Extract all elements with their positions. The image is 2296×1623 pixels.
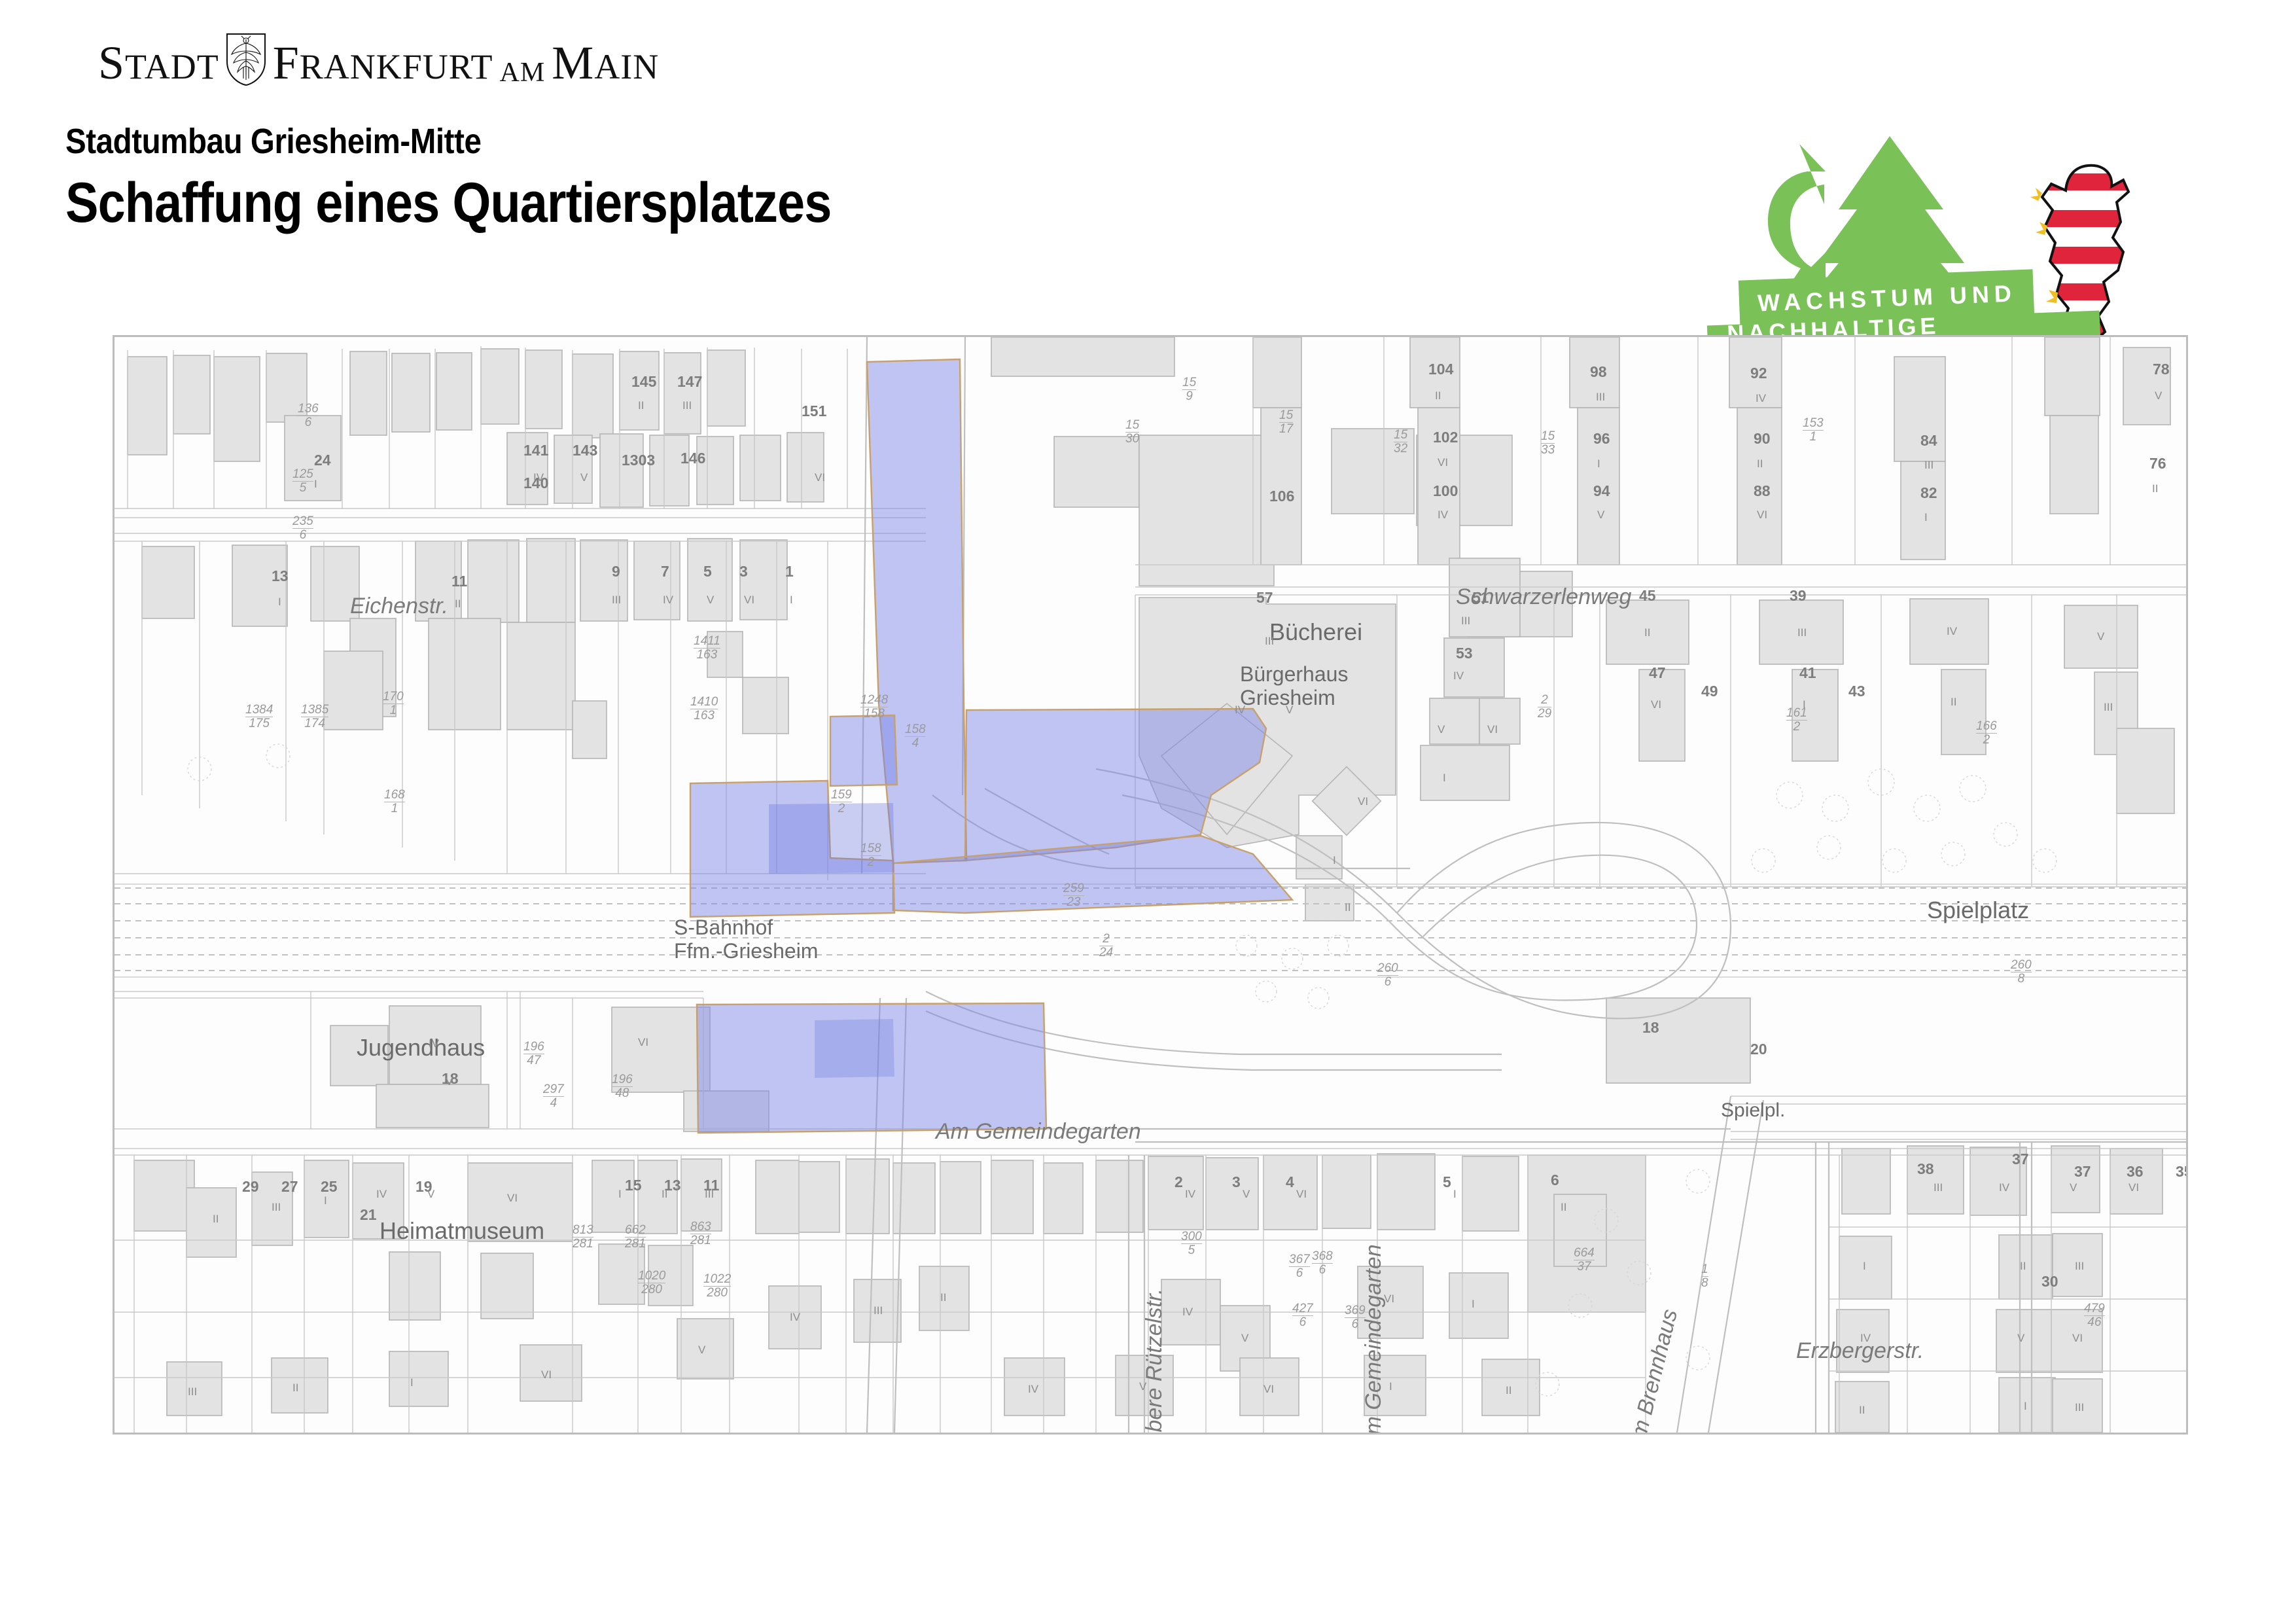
parcel-number: 3686	[1312, 1250, 1333, 1276]
house-number: 45	[1639, 587, 1656, 605]
house-number: 94	[1593, 482, 1610, 500]
city-logo-am: AM	[500, 59, 546, 86]
house-number: 49	[1701, 683, 1718, 700]
floor-count: II	[1757, 457, 1763, 471]
house-number: 15	[625, 1177, 642, 1194]
parcel-numerator: 158	[905, 723, 926, 737]
floor-count: V	[2097, 630, 2104, 643]
parcel-numerator: 367	[1289, 1253, 1310, 1267]
parcel-number: 813281	[573, 1224, 593, 1250]
floor-count: IV	[1438, 508, 1448, 522]
parcel-numerator: 369	[1345, 1304, 1366, 1318]
parcel-denominator: 1	[1810, 430, 1817, 444]
floor-count: II	[1644, 626, 1650, 639]
parcel-numerator: 15	[1125, 419, 1139, 433]
parcel-numerator: 1411	[694, 635, 720, 649]
parcel-denominator: 5	[300, 481, 307, 495]
floor-count: V	[1139, 1380, 1146, 1393]
poi-label-jugendhaus: Jugendhaus	[357, 1034, 485, 1061]
parcel-denominator: 4	[550, 1096, 557, 1110]
parcel-denominator: 163	[697, 648, 718, 662]
parcel-denominator: 29	[1538, 707, 1551, 721]
parcel-number: 19647	[523, 1041, 544, 1067]
floor-count: IV	[376, 1188, 387, 1201]
city-logo: STADT FRANKFURT AM MAIN	[98, 33, 659, 86]
parcel-numerator: 863	[690, 1221, 711, 1234]
parcel-numerator: 15	[1279, 409, 1293, 423]
floor-count: IV	[533, 471, 544, 484]
floor-count: I	[314, 478, 317, 491]
floor-count: II	[1506, 1384, 1511, 1397]
parcel-number: 159	[1182, 376, 1196, 402]
house-number: 24	[314, 452, 331, 469]
floor-count: II	[2020, 1260, 2026, 1273]
parcel-number: 1530	[1125, 419, 1139, 445]
parcel-number: 1410163	[690, 696, 718, 722]
parcel-denominator: 6	[1319, 1263, 1326, 1277]
floor-count: VI	[1358, 795, 1368, 808]
house-number: 37	[2012, 1150, 2029, 1168]
floor-count: II	[1859, 1404, 1865, 1417]
parcel-denominator: 2	[868, 855, 875, 869]
floor-count: II	[638, 399, 644, 412]
floor-count: II	[2152, 482, 2158, 495]
parcel-denominator: 37	[1577, 1260, 1591, 1274]
parcel-denominator: 33	[1541, 443, 1555, 457]
house-number: 25	[321, 1178, 338, 1196]
parcel-denominator: 6	[1299, 1315, 1307, 1329]
parcel-numerator: 196	[612, 1073, 633, 1087]
parcel-denominator: 281	[625, 1237, 646, 1251]
house-number: 84	[1920, 432, 1937, 450]
floor-count: V	[1286, 704, 1293, 717]
parcel-denominator: 280	[707, 1286, 728, 1300]
parcel-numerator: 1	[1701, 1263, 1708, 1277]
street-label-am-gemeindegarten: Am Gemeindegarten	[936, 1119, 1141, 1145]
house-number: 36	[2127, 1163, 2144, 1181]
floor-count: V	[580, 471, 588, 484]
house-number: 57	[1256, 589, 1273, 607]
house-number: 106	[1269, 488, 1294, 505]
floor-count: I	[790, 594, 793, 607]
parcel-denominator: 8	[1701, 1276, 1708, 1290]
floor-count: III	[1596, 391, 1605, 404]
floor-count: II	[1435, 389, 1441, 402]
floor-count: III	[1797, 626, 1807, 639]
poi-label-buergerhaus-line2: Griesheim	[1240, 687, 1348, 710]
floor-count: IV	[1453, 669, 1464, 683]
house-number: 1	[785, 563, 794, 580]
house-number: 6	[1551, 1171, 1559, 1189]
floor-count: III	[705, 1188, 714, 1201]
parcel-denominator: 2	[1983, 733, 1990, 747]
house-number: 2	[1174, 1173, 1183, 1191]
parcel-denominator: 163	[694, 709, 715, 722]
floor-count: I	[1333, 854, 1336, 867]
floor-count: II	[1345, 901, 1351, 914]
parcel-numerator: 159	[831, 789, 852, 802]
floor-count: I	[1443, 772, 1446, 785]
parcel-numerator: 196	[523, 1041, 544, 1054]
floor-count: VI	[1651, 698, 1661, 711]
parcel-number: 1701	[383, 690, 404, 717]
parcel-denominator: 47	[527, 1054, 540, 1067]
parcel-number: 1248158	[860, 694, 888, 720]
parcel-number: 1517	[1279, 409, 1293, 435]
house-number: 21	[360, 1206, 377, 1224]
floor-count: III	[1461, 615, 1470, 628]
floor-count: III	[612, 594, 621, 607]
parcel-numerator: 1410	[690, 696, 718, 709]
floor-count: IV	[790, 1311, 800, 1324]
parcel-number: 1385174	[301, 704, 328, 730]
house-number: 30	[2041, 1273, 2058, 1291]
floor-count: IV	[1860, 1332, 1871, 1345]
parcel-number: 4276	[1292, 1302, 1313, 1329]
parcel-numerator: 297	[543, 1083, 564, 1097]
parcel-number: 3696	[1345, 1304, 1366, 1330]
parcel-numerator: 368	[1312, 1250, 1333, 1264]
floor-count: II	[1951, 696, 1956, 709]
floor-count: I	[2024, 1400, 2027, 1413]
parcel-numerator: 15	[1394, 429, 1407, 442]
city-logo-frankfurt: FRANKFURT	[273, 39, 493, 86]
title-block: Stadtumbau Griesheim-Mitte Schaffung ein…	[65, 121, 936, 236]
house-number: 141	[523, 442, 548, 459]
floor-count: IV	[1947, 625, 1957, 638]
house-number: 145	[631, 373, 656, 391]
parcel-numerator: 166	[1976, 720, 1997, 734]
parcel-number: 2606	[1377, 962, 1398, 988]
parcel-numerator: 15	[1541, 430, 1555, 444]
house-number: 43	[1848, 683, 1865, 700]
floor-count: VI	[744, 594, 754, 607]
house-number: 90	[1754, 430, 1771, 448]
floor-count: V	[446, 1075, 453, 1088]
parcel-denominator: 6	[300, 528, 307, 542]
poster-page: STADT FRANKFURT AM MAIN	[0, 0, 2296, 1623]
floor-count: IV	[1235, 704, 1245, 717]
parcel-numerator: 1022	[703, 1273, 731, 1287]
floor-count: VI	[541, 1368, 552, 1382]
parcel-denominator: 281	[690, 1234, 711, 1247]
floor-count: II	[662, 1188, 667, 1201]
house-number: 20	[1750, 1041, 1767, 1058]
house-number: 151	[802, 402, 826, 420]
parcel-number: 1366	[298, 402, 319, 429]
floor-count: VI	[1487, 723, 1498, 736]
parcel-denominator: 6	[1296, 1266, 1303, 1280]
parcel-number: 66437	[1574, 1247, 1595, 1273]
floor-count: V	[2155, 389, 2162, 402]
parcel-numerator: 260	[1377, 962, 1398, 976]
floor-count: IV	[1182, 1306, 1193, 1319]
floor-count: III	[874, 1304, 883, 1317]
parcel-denominator: 6	[1385, 975, 1392, 989]
parcel-number: 1662	[1976, 720, 1997, 746]
parcel-numerator: 260	[2011, 959, 2032, 972]
parcel-number: 1584	[905, 723, 926, 749]
parcel-numerator: 2	[1538, 694, 1551, 707]
house-number: 104	[1428, 361, 1453, 378]
floor-count: I	[410, 1376, 414, 1389]
house-number: 18	[1642, 1019, 1659, 1037]
house-number: 38	[1917, 1160, 1934, 1178]
parcel-number: 19648	[612, 1073, 633, 1099]
parcel-number: 1020280	[638, 1270, 665, 1296]
frankfurt-eagle-crest-icon	[226, 33, 266, 86]
floor-count: I	[1453, 1188, 1457, 1201]
floor-count: III	[2075, 1401, 2084, 1414]
parcel-number: 3005	[1181, 1230, 1202, 1257]
parcel-numerator: 427	[1292, 1302, 1313, 1316]
project-subtitle: Stadtumbau Griesheim-Mitte	[65, 121, 831, 162]
house-number: 92	[1750, 365, 1767, 382]
house-number: 143	[573, 442, 597, 459]
house-number: 3	[1232, 1173, 1241, 1191]
floor-count: V	[427, 1188, 434, 1201]
parcel-denominator: 174	[304, 717, 325, 730]
parcel-denominator: 24	[1099, 946, 1113, 959]
floor-count: VI	[1384, 1293, 1394, 1306]
house-number: 47	[1649, 664, 1666, 682]
floor-count: VI	[815, 471, 825, 484]
floor-count: IV	[1756, 392, 1766, 405]
floor-count: III	[1934, 1181, 1943, 1194]
parcel-number: 25923	[1063, 882, 1084, 908]
floor-count: I	[324, 1194, 327, 1207]
parcel-denominator: 48	[615, 1086, 629, 1100]
floor-count: I	[1924, 511, 1928, 524]
floor-count: VI	[2072, 1332, 2083, 1345]
floor-count: III	[2075, 1260, 2084, 1273]
parcel-denominator: 6	[1352, 1317, 1359, 1331]
house-number: 7	[661, 563, 669, 580]
parcel-number: 2974	[543, 1083, 564, 1109]
parcel-denominator: 9	[1186, 389, 1193, 403]
parcel-number: 1533	[1541, 430, 1555, 456]
house-number: 39	[1790, 587, 1807, 605]
parcel-numerator: 153	[1803, 417, 1824, 431]
floor-count: VI	[2128, 1181, 2139, 1194]
floor-count: III	[682, 399, 692, 412]
parcel-numerator: 235	[292, 515, 313, 529]
city-logo-main: MAIN	[552, 39, 659, 86]
poi-label-sbahnhof: S-Bahnhof Ffm.-Griesheim	[674, 916, 818, 963]
floor-count: IV	[663, 594, 673, 607]
parcel-number: 2608	[2011, 959, 2032, 985]
house-number: 37	[2074, 1163, 2091, 1181]
floor-count: IV	[1999, 1181, 2009, 1194]
house-number: 98	[1590, 363, 1607, 381]
floor-count: V	[2070, 1181, 2077, 1194]
floor-count: IV	[1185, 1188, 1195, 1201]
house-number: 5	[1443, 1173, 1451, 1191]
parcel-number: 2356	[292, 515, 313, 541]
footer-logo-bar: Bundesministerium für Wohnen, Stadtentwi…	[0, 1472, 2296, 1623]
house-number: 78	[2153, 361, 2170, 378]
parcel-numerator: 813	[573, 1224, 593, 1238]
parcel-number: 1592	[831, 789, 852, 815]
city-logo-stadt: STADT	[98, 39, 219, 86]
floor-count: VI	[638, 1036, 648, 1049]
floor-count: V	[1241, 1332, 1248, 1345]
house-number: 9	[612, 563, 620, 580]
parcel-numerator: 158	[860, 842, 881, 856]
parcel-numerator: 259	[1063, 882, 1084, 896]
house-number: 35	[2176, 1163, 2188, 1181]
parcel-numerator: 662	[625, 1224, 646, 1238]
parcel-number: 1255	[292, 468, 313, 494]
house-number: 41	[1799, 664, 1816, 682]
parcel-number: 224	[1099, 933, 1113, 959]
poi-label-sbahnhof-line2: Ffm.-Griesheim	[674, 940, 818, 963]
parcel-denominator: 280	[641, 1283, 662, 1296]
parcel-denominator: 2	[1793, 720, 1801, 734]
parcel-number: 1531	[1803, 417, 1824, 443]
parcel-number: 1384175	[245, 704, 273, 730]
parcel-numerator: 664	[1574, 1247, 1595, 1260]
parcel-denominator: 17	[1279, 422, 1293, 436]
poi-label-buergerhaus-line1: Bürgerhaus	[1240, 663, 1348, 687]
parcel-denominator: 158	[864, 707, 885, 721]
house-number: 13	[272, 567, 289, 585]
floor-count: II	[455, 597, 461, 611]
floor-count: III	[1924, 459, 1934, 472]
parcel-numerator: 2	[1099, 933, 1113, 946]
floor-count: I	[618, 1188, 622, 1201]
parcel-denominator: 23	[1067, 895, 1080, 909]
floor-count: III	[272, 1201, 281, 1214]
parcel-number: 1022280	[703, 1273, 731, 1299]
floor-count: III	[188, 1385, 197, 1399]
parcel-number: 229	[1538, 694, 1551, 720]
floor-count: VI	[1296, 1188, 1307, 1201]
page-title: Schaffung eines Quartiersplatzes	[65, 171, 831, 236]
floor-count: II	[940, 1291, 946, 1304]
house-number: 102	[1433, 429, 1458, 446]
parcel-denominator: 175	[249, 717, 270, 730]
floor-count: I	[1597, 457, 1600, 471]
street-label-obere-ruetzelstr: Obere Rützelstr.	[1142, 1289, 1167, 1435]
house-number: 53	[1456, 645, 1473, 662]
floor-count: V	[707, 594, 714, 607]
parcel-numerator: 1248	[860, 694, 888, 707]
floor-count: I	[278, 596, 281, 609]
floor-count: V	[1597, 508, 1604, 522]
parcel-numerator: 125	[292, 468, 313, 482]
parcel-number: 1681	[384, 789, 405, 815]
floor-count: IV	[1028, 1383, 1038, 1396]
parcel-denominator: 1	[390, 704, 397, 717]
parcel-denominator: 2	[838, 802, 845, 815]
street-label-am-gemeindegarten-vertical: Am Gemeindegarten	[1361, 1244, 1386, 1435]
parcel-denominator: 5	[1188, 1243, 1195, 1257]
floor-count: II	[213, 1213, 219, 1226]
parcel-number: 1411163	[694, 635, 720, 661]
floor-count: II	[292, 1382, 298, 1395]
parcel-number: 3676	[1289, 1253, 1310, 1279]
parcel-number: 863281	[690, 1221, 711, 1247]
floor-count: V	[1438, 723, 1445, 736]
parcel-numerator: 168	[384, 789, 405, 802]
house-number: 4	[1286, 1173, 1294, 1191]
parcel-denominator: 32	[1394, 442, 1407, 455]
house-number: 3	[739, 563, 748, 580]
parcel-denominator: 8	[2018, 972, 2025, 986]
parcel-numerator: 1020	[638, 1270, 665, 1283]
parcel-numerator: 1384	[245, 704, 273, 717]
parcel-numerator: 300	[1181, 1230, 1202, 1244]
house-number: 5	[703, 563, 712, 580]
poi-label-spielplatz: Spielplatz	[1927, 897, 2029, 924]
poi-label-spielpl: Spielpl.	[1721, 1099, 1785, 1122]
floor-count: I	[1472, 1298, 1475, 1311]
parcel-number: 662281	[625, 1224, 646, 1250]
map-canvas	[115, 337, 2186, 1433]
floor-count: V	[698, 1344, 705, 1357]
house-number: 76	[2149, 455, 2166, 473]
poi-label-buergerhaus: Bürgerhaus Griesheim	[1240, 663, 1348, 710]
floor-count: VI	[1438, 456, 1448, 469]
floor-count: VI	[1263, 1383, 1274, 1396]
house-number: 1303	[622, 452, 655, 469]
house-number: 147	[677, 373, 702, 391]
parcel-numerator: 136	[298, 402, 319, 416]
house-number: 96	[1593, 430, 1610, 448]
floor-count: II	[1561, 1201, 1566, 1214]
parcel-number: 47946	[2084, 1302, 2105, 1329]
parcel-numerator: 479	[2084, 1302, 2105, 1316]
parcel-number: 1532	[1394, 429, 1407, 455]
parcel-denominator: 4	[912, 736, 919, 750]
floor-count: III	[2104, 701, 2113, 714]
floor-count: I	[1803, 698, 1806, 711]
house-number: 51	[1472, 589, 1489, 607]
parcel-denominator: 1	[391, 802, 398, 815]
floor-count: I	[1389, 1380, 1392, 1393]
parcel-denominator: 30	[1125, 432, 1139, 446]
poi-label-sbahnhof-line1: S-Bahnhof	[674, 916, 818, 940]
parcel-numerator: 15	[1182, 376, 1196, 390]
cadastral-map[interactable]: Eichenstr. Schwarzerlenweg Erzbergerstr.…	[113, 335, 2188, 1435]
floor-count: III	[1265, 635, 1274, 648]
floor-count: V	[2017, 1332, 2024, 1345]
house-number: 146	[680, 450, 705, 467]
poi-label-buecherei: Bücherei	[1269, 618, 1362, 646]
parcel-numerator: 170	[383, 690, 404, 704]
parcel-denominator: 6	[305, 416, 312, 429]
floor-count: I	[1863, 1260, 1866, 1273]
parcel-number: 18	[1701, 1263, 1708, 1289]
house-number: 88	[1754, 482, 1771, 500]
floor-count: V	[1243, 1188, 1250, 1201]
street-label-eichenstr: Eichenstr.	[350, 594, 448, 619]
house-number: 27	[281, 1178, 298, 1196]
poi-label-heimatmuseum: Heimatmuseum	[380, 1217, 544, 1245]
parcel-denominator: 46	[2087, 1315, 2101, 1329]
house-number: 100	[1433, 482, 1458, 500]
floor-count: VI	[507, 1192, 518, 1205]
floor-count: VI	[1757, 508, 1767, 522]
parcel-number: 1582	[860, 842, 881, 868]
house-number: 11	[451, 573, 467, 590]
parcel-denominator: 281	[573, 1237, 593, 1251]
floor-count: IV	[429, 1037, 439, 1050]
house-number: 29	[242, 1178, 259, 1196]
house-number: 82	[1920, 484, 1937, 502]
parcel-numerator: 1385	[301, 704, 328, 717]
